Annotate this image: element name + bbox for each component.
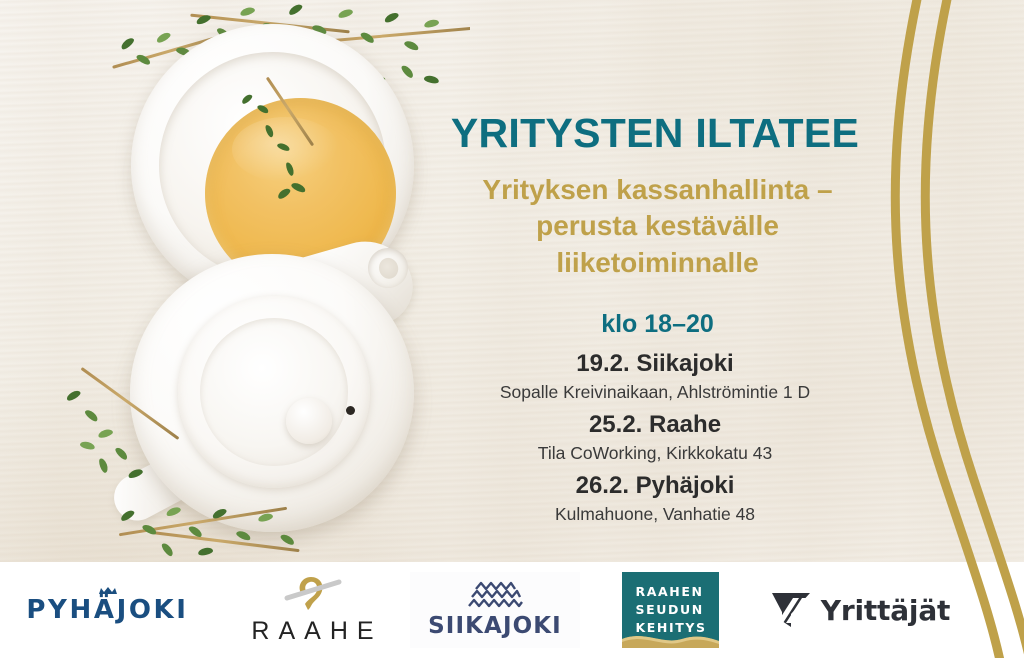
- pyhajoki-label: PYHÄJOKI: [26, 595, 188, 625]
- partner-logo-bar: PYHÄJOKI RAAHE: [0, 562, 1024, 658]
- tea-photo: [0, 0, 470, 562]
- pyhajoki-crown-icon: [98, 586, 118, 595]
- teapot-body: [130, 254, 414, 532]
- event-address: Tila CoWorking, Kirkkokatu 43: [420, 440, 890, 467]
- logo-raahen-seudun-kehitys[interactable]: RAAHEN SEUDUN KEHITYS: [580, 562, 760, 658]
- teapot-lid: [178, 296, 370, 488]
- event-item: 26.2. Pyhäjoki Kulmahuone, Vanhatie 48: [420, 470, 890, 528]
- event-city: 19.2. Siikajoki: [420, 348, 890, 379]
- event-city: 25.2. Raahe: [420, 409, 890, 440]
- raahe-ribbon-icon: [281, 574, 345, 612]
- event-item: 25.2. Raahe Tila CoWorking, Kirkkokatu 4…: [420, 409, 890, 467]
- logo-raahe[interactable]: RAAHE: [215, 562, 410, 658]
- logo-siikajoki[interactable]: SIIKAJOKI: [410, 572, 580, 648]
- event-item: 19.2. Siikajoki Sopalle Kreivinaikaan, A…: [420, 348, 890, 406]
- event-time: klo 18–20: [430, 310, 885, 339]
- logo-yrittajat[interactable]: Yrittäjät: [760, 562, 960, 658]
- raahe-label: RAAHE: [242, 617, 382, 646]
- kehitys-line-2: SEUDUN: [636, 601, 719, 619]
- subtitle-line-3: liiketoiminnalle: [430, 245, 885, 281]
- yrittajat-mark-icon: [770, 590, 816, 630]
- yrittajat-label: Yrittäjät: [821, 594, 950, 627]
- teapot-lid-inner: [200, 318, 348, 466]
- event-address: Kulmahuone, Vanhatie 48: [420, 501, 890, 528]
- siikajoki-label: SIIKAJOKI: [428, 613, 562, 639]
- kehitys-line-1: RAAHEN: [636, 583, 719, 601]
- subtitle-line-2: perusta kestävälle: [430, 208, 885, 244]
- logo-row: PYHÄJOKI RAAHE: [0, 562, 1024, 658]
- event-address: Sopalle Kreivinaikaan, Ahlströmintie 1 D: [420, 379, 890, 406]
- subtitle-line-1: Yrityksen kassanhallinta –: [430, 172, 885, 208]
- teapot-vent-hole: [346, 406, 355, 415]
- poster-subtitle: Yrityksen kassanhallinta – perusta kestä…: [430, 172, 885, 281]
- kehitys-shield: RAAHEN SEUDUN KEHITYS: [622, 572, 719, 648]
- event-city: 26.2. Pyhäjoki: [420, 470, 890, 501]
- siikajoki-waves-icon: [464, 581, 526, 611]
- poster-content: YRITYSTEN ILTATEE Yrityksen kassanhallin…: [420, 0, 920, 562]
- kehitys-gold-wave: [622, 628, 719, 648]
- poster: YRITYSTEN ILTATEE Yrityksen kassanhallin…: [0, 0, 1024, 658]
- page-title: YRITYSTEN ILTATEE: [420, 112, 890, 155]
- teapot-knob: [286, 398, 332, 444]
- event-list: 19.2. Siikajoki Sopalle Kreivinaikaan, A…: [420, 348, 890, 530]
- logo-pyhajoki[interactable]: PYHÄJOKI: [0, 562, 215, 658]
